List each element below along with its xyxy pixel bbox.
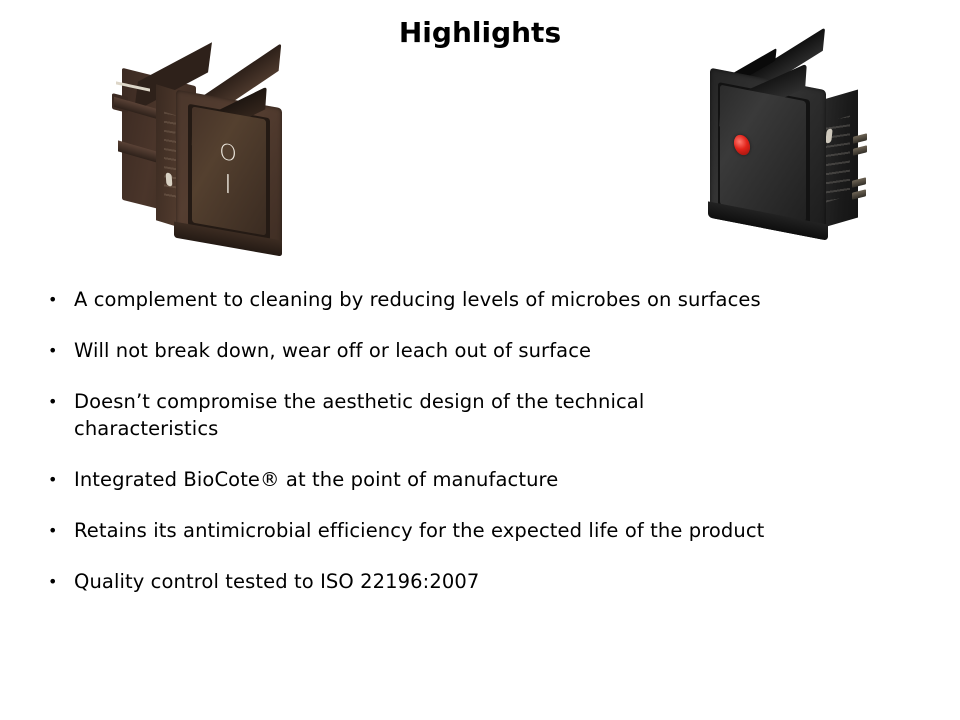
slide-canvas: Highlights O I bbox=[0, 0, 960, 720]
switch-legend-group: O I bbox=[206, 139, 250, 203]
highlights-bullet-list: • A complement to cleaning by reducing l… bbox=[42, 286, 942, 595]
list-item: • Will not break down, wear off or leach… bbox=[42, 337, 942, 364]
list-item: • Integrated BioCote® at the point of ma… bbox=[42, 466, 942, 493]
rocker-switch-black-illuminated-illustration bbox=[690, 55, 890, 250]
bullet-point-icon: • bbox=[42, 466, 74, 493]
switch-side-marking bbox=[166, 172, 173, 187]
bullet-point-icon: • bbox=[42, 337, 74, 364]
switch2-rocker-paddle bbox=[720, 85, 806, 222]
product-image-strip: O I bbox=[0, 55, 960, 255]
list-item: • A complement to cleaning by reducing l… bbox=[42, 286, 942, 313]
list-item-label: Quality control tested to ISO 22196:2007 bbox=[74, 568, 934, 595]
list-item-label: Integrated BioCote® at the point of manu… bbox=[74, 466, 934, 493]
bullet-point-icon: • bbox=[42, 517, 74, 544]
bullet-point-icon: • bbox=[42, 568, 74, 595]
rocker-switch-brown-oi-illustration: O I bbox=[108, 55, 318, 255]
list-item-label: Retains its antimicrobial efficiency for… bbox=[74, 517, 934, 544]
list-item-label: Will not break down, wear off or leach o… bbox=[74, 337, 934, 364]
product-image-rocker-switch-black bbox=[690, 55, 890, 250]
list-item-label: Doesn’t compromise the aesthetic design … bbox=[74, 388, 774, 442]
list-item: • Quality control tested to ISO 22196:20… bbox=[42, 568, 942, 595]
list-item-label: A complement to cleaning by reducing lev… bbox=[74, 286, 934, 313]
bullet-point-icon: • bbox=[42, 388, 74, 415]
product-image-rocker-switch-brown: O I bbox=[108, 55, 318, 255]
list-item: • Retains its antimicrobial efficiency f… bbox=[42, 517, 942, 544]
list-item: • Doesn’t compromise the aesthetic desig… bbox=[42, 388, 942, 442]
bullet-point-icon: • bbox=[42, 286, 74, 313]
